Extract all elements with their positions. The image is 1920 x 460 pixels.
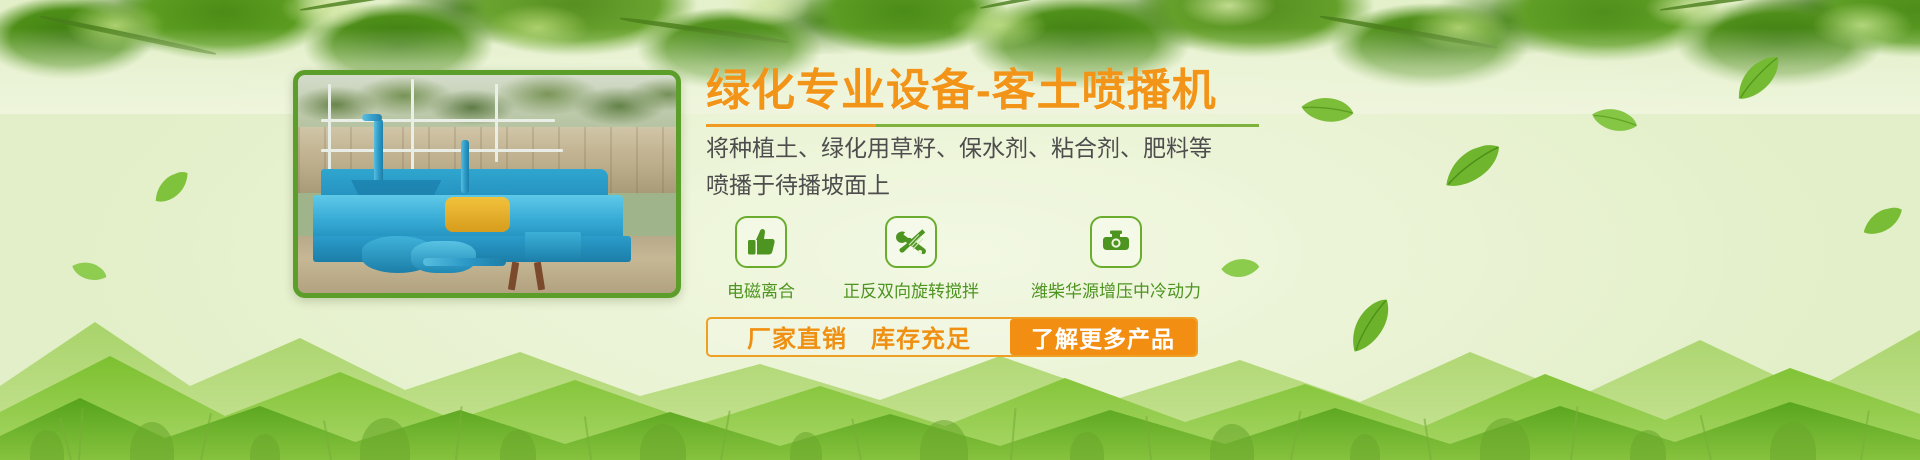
floating-leaf-icon [147,169,197,208]
promo-banner: 绿化专业设备-客土喷播机 将种植土、绿化用草籽、保水剂、粘合剂、肥料等 喷播于待… [0,0,1920,460]
banner-content: 绿化专业设备-客土喷播机 将种植土、绿化用草籽、保水剂、粘合剂、肥料等 喷播于待… [706,66,1346,357]
feature-list: 电磁离合 正反双向旋转搅拌 [706,216,1346,302]
thumbs-up-icon [735,216,787,268]
feature-label: 潍柴华源增压中冷动力 [1006,277,1226,302]
feature-item-bidirectional-mixing[interactable]: 正反双向旋转搅拌 [816,216,1006,302]
banner-subtitle-line1: 将种植土、绿化用草籽、保水剂、粘合剂、肥料等 [706,133,1346,163]
engine-icon [1090,216,1142,268]
cta-tag-2: 库存充足 [871,319,971,354]
product-photo[interactable] [293,70,681,298]
feature-item-electromagnetic-clutch[interactable]: 电磁离合 [706,216,816,302]
feature-label: 电磁离合 [706,277,816,302]
title-divider [706,124,1259,127]
wrench-screwdriver-icon [885,216,937,268]
floating-leaf-icon [1858,205,1908,238]
feature-label: 正反双向旋转搅拌 [816,277,1006,302]
cta-bar: 厂家直销 库存充足 了解更多产品 [706,317,1198,357]
grass-decoration [0,382,1920,460]
banner-title: 绿化专业设备-客土喷播机 [706,66,1346,115]
floating-leaf-icon [1436,141,1509,194]
cta-tag-1: 厂家直销 [747,319,847,354]
banner-subtitle-line2: 喷播于待播坡面上 [706,170,1346,200]
learn-more-button[interactable]: 了解更多产品 [1010,319,1196,355]
feature-item-weichai-engine[interactable]: 潍柴华源增压中冷动力 [1006,216,1226,302]
cta-tags: 厂家直销 库存充足 [708,319,1010,355]
